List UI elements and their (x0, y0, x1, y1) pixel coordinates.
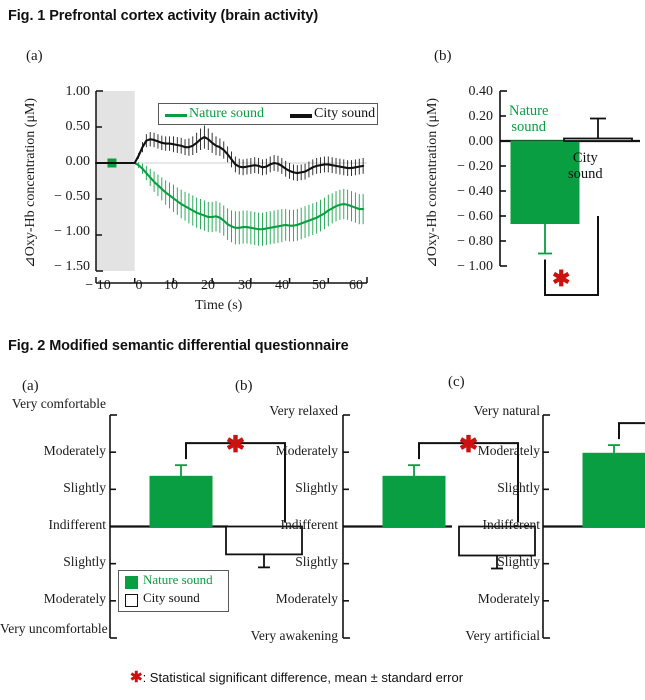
fig2c-canvas: ✱ (543, 411, 645, 638)
fig2c-bar-nature-sound (583, 453, 645, 526)
footnote-star-icon: ✱ (130, 669, 143, 686)
figure-footnote: ✱: Statistical significant difference, m… (130, 668, 463, 686)
footnote-text: : Statistical significant difference, me… (143, 670, 464, 685)
fig2c-plot-area: ✱ (0, 0, 645, 700)
